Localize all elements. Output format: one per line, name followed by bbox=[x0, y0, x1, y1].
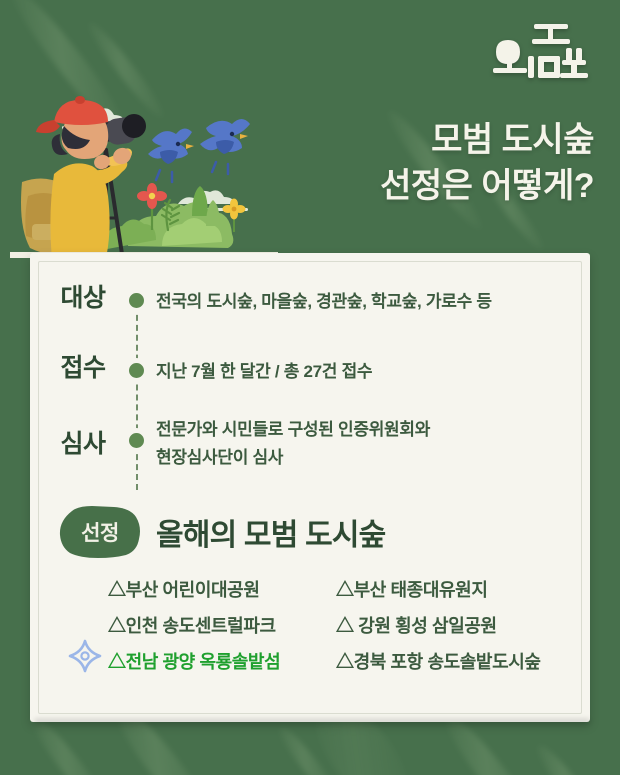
info-row-value: 지난 7월 한 달간 / 총 27건 접수 bbox=[156, 355, 372, 386]
bird-icon bbox=[148, 119, 250, 182]
selected-parks-list: △부산 어린이대공원 △부산 태종대유원지 △인천 송도센트럴파크 △ 강원 횡… bbox=[108, 571, 576, 679]
birdwatcher-illustration bbox=[10, 78, 278, 258]
park-name: △ 강원 횡성 삼일공원 bbox=[336, 612, 497, 638]
selection-badge: 선정 bbox=[58, 505, 142, 559]
park-name: △부산 어린이대공원 bbox=[108, 576, 336, 602]
park-name-highlighted: △전남 광양 옥룡솔밭섬 bbox=[108, 648, 336, 674]
park-name: △인천 송도센트럴파크 bbox=[108, 612, 336, 638]
headline-line-2: 선정은 어떻게? bbox=[254, 164, 594, 210]
info-row-target: 대상 전국의 도시숲, 마을숲, 경관숲, 학교숲, 가로수 등 bbox=[30, 285, 590, 316]
park-name: △부산 태종대유원지 bbox=[336, 576, 487, 602]
page-title: 모범 도시숲 선정은 어떻게? bbox=[254, 118, 594, 209]
card-shadow-lip bbox=[34, 718, 590, 724]
park-name: △경북 포항 송도솔밭도시숲 bbox=[336, 648, 541, 674]
sparkle-star-icon bbox=[68, 639, 102, 673]
info-row-label: 접수 bbox=[30, 355, 136, 383]
info-row-value: 전문가와 시민들로 구성된 인증위원회와 현장심사단이 심사 bbox=[156, 413, 430, 471]
selection-title: 올해의 모범 도시숲 bbox=[156, 510, 385, 554]
gwangju-ilbo-logo bbox=[488, 16, 598, 88]
selection-heading: 선정 올해의 모범 도시숲 bbox=[58, 505, 385, 559]
content-card: 대상 전국의 도시숲, 마을숲, 경관숲, 학교숲, 가로수 등 접수 지난 7… bbox=[30, 253, 590, 722]
park-row: △부산 어린이대공원 △부산 태종대유원지 bbox=[108, 571, 576, 607]
info-row-application: 접수 지난 7월 한 달간 / 총 27건 접수 bbox=[30, 355, 590, 386]
selection-badge-label: 선정 bbox=[81, 517, 119, 547]
info-row-label: 대상 bbox=[30, 285, 136, 313]
park-row: △인천 송도센트럴파크 △ 강원 횡성 삼일공원 bbox=[108, 607, 576, 643]
info-row-review: 심사 전문가와 시민들로 구성된 인증위원회와 현장심사단이 심사 bbox=[30, 413, 590, 471]
info-row-label: 심사 bbox=[30, 413, 136, 459]
info-row-value: 전국의 도시숲, 마을숲, 경관숲, 학교숲, 가로수 등 bbox=[156, 285, 492, 316]
headline-line-1: 모범 도시숲 bbox=[431, 121, 594, 159]
park-row-highlighted: △전남 광양 옥룡솔밭섬 △경북 포항 송도솔밭도시숲 bbox=[108, 643, 576, 679]
